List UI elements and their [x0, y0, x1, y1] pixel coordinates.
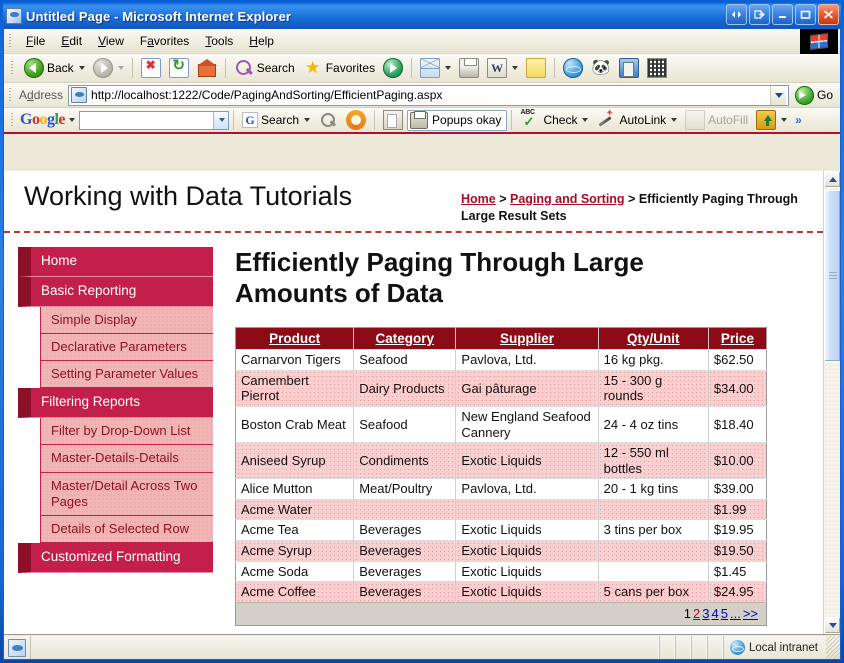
site-header: Working with Data Tutorials Home > Pagin…: [4, 171, 823, 233]
google-logo: Google: [20, 111, 65, 129]
sidebar-item-filtering-reports[interactable]: Filtering Reports: [18, 388, 213, 418]
intranet-globe-icon: [730, 640, 745, 655]
column-header-product[interactable]: Product: [236, 328, 354, 350]
autofill-label: AutoFill: [708, 113, 748, 127]
go-arrow-icon: [795, 86, 814, 105]
popup-blocker-label: Popups okay: [432, 113, 501, 127]
minimize-button[interactable]: [772, 4, 793, 25]
sidebar-item-simple-display[interactable]: Simple Display: [40, 307, 213, 334]
firefox-icon: 🐼: [591, 58, 611, 78]
cell-price: $24.95: [708, 582, 766, 603]
home-icon: [197, 58, 217, 78]
table-row: Acme Tea Beverages Exotic Liquids 3 tins…: [236, 520, 767, 541]
ie-page-icon: [6, 8, 22, 24]
forward-history-chevron-icon[interactable]: [118, 66, 124, 70]
spell-check-label: Check: [543, 113, 577, 127]
window-buttons: [726, 4, 839, 25]
pager-link-ellipsis[interactable]: ...: [730, 606, 741, 621]
cell-category: Dairy Products: [354, 370, 456, 406]
sidebar-item-home[interactable]: Home: [18, 247, 213, 277]
cell-price: $39.00: [708, 479, 766, 500]
search-label: Search: [257, 61, 295, 75]
send-to-button[interactable]: [752, 108, 791, 132]
table-row: Acme Water $1.99: [236, 499, 767, 520]
google-highlight-button[interactable]: [314, 108, 342, 132]
cell-qty-unit: [598, 499, 708, 520]
cell-product: Acme Coffee: [236, 582, 354, 603]
status-security-zone[interactable]: Local intranet: [723, 636, 824, 659]
cell-qty-unit: 12 - 550 ml bottles: [598, 443, 708, 479]
table-row: Acme Soda Beverages Exotic Liquids $1.45: [236, 561, 767, 582]
cell-price: $19.95: [708, 520, 766, 541]
window-client-area: File Edit View Favorites Tools Help Back: [3, 29, 841, 660]
edit-word-chevron-icon[interactable]: [512, 66, 518, 70]
send-to-chevron-icon[interactable]: [781, 118, 787, 122]
menu-tools[interactable]: Tools: [197, 31, 241, 51]
cell-qty-unit: [598, 541, 708, 562]
menu-edit-label: dit: [69, 34, 82, 48]
pager-link-next[interactable]: >>: [743, 606, 758, 621]
chevron-down-icon: [829, 623, 837, 628]
cell-qty-unit: 5 cans per box: [598, 582, 708, 603]
media-icon: [383, 58, 403, 78]
menu-favorites[interactable]: Favorites: [132, 31, 197, 51]
forward-icon: [93, 58, 113, 78]
go-label: Go: [817, 88, 833, 102]
products-grid: Product Category Supplier Qty/Unit Price…: [235, 327, 767, 626]
breadcrumb-sep-2: >: [625, 192, 639, 206]
stop-icon: [141, 58, 161, 78]
pager-link-5[interactable]: 5: [721, 606, 728, 621]
google-separator-1: [233, 110, 234, 130]
mail-chevron-icon[interactable]: [445, 66, 451, 70]
table-row: Camembert Pierrot Dairy Products Gai pât…: [236, 370, 767, 406]
mail-icon: [420, 58, 440, 78]
google-separator-3: [511, 110, 512, 130]
column-header-price[interactable]: Price: [708, 328, 766, 350]
window-title: Untitled Page - Microsoft Internet Explo…: [26, 9, 291, 24]
cell-supplier: Exotic Liquids: [456, 541, 598, 562]
close-button[interactable]: [818, 4, 839, 25]
spell-check-chevron-icon[interactable]: [582, 118, 588, 122]
cell-price: $18.40: [708, 406, 766, 442]
cell-category: Meat/Poultry: [354, 479, 456, 500]
pager-link-2[interactable]: 2: [693, 606, 700, 621]
stop-button[interactable]: [137, 56, 165, 80]
google-toolbar: Google G Search Popups okay: [4, 108, 840, 134]
search-button[interactable]: Search: [230, 56, 299, 80]
notes-icon: [526, 58, 546, 78]
encoding-button[interactable]: [643, 56, 671, 80]
scroll-down-button[interactable]: [824, 617, 841, 634]
menu-view-label: iew: [106, 34, 124, 48]
google-search-button[interactable]: G Search: [238, 110, 314, 130]
google-search-label: Search: [261, 113, 299, 127]
menu-edit[interactable]: Edit: [53, 31, 90, 51]
column-header-qty-unit[interactable]: Qty/Unit: [598, 328, 708, 350]
cell-category: Seafood: [354, 350, 456, 371]
grid-pager-row: 12345...>>: [236, 602, 767, 626]
status-slot-3: [691, 636, 707, 659]
cell-product: Carnarvon Tigers: [236, 350, 354, 371]
status-slot-2: [675, 636, 691, 659]
main-content: Efficiently Paging Through Large Amounts…: [213, 247, 823, 627]
cell-qty-unit: 24 - 4 oz tins: [598, 406, 708, 442]
google-separator-2: [374, 110, 375, 130]
cell-category: Beverages: [354, 520, 456, 541]
maximize-button[interactable]: [795, 4, 816, 25]
cell-price: $10.00: [708, 443, 766, 479]
sidebar-item-filter-by-dropdown-list[interactable]: Filter by Drop-Down List: [40, 418, 213, 445]
address-dropdown-button[interactable]: [770, 86, 786, 105]
google-pagerank-button[interactable]: [342, 108, 370, 132]
restore-down-button[interactable]: [749, 4, 770, 25]
cell-product: Aniseed Syrup: [236, 443, 354, 479]
column-header-category[interactable]: Category: [354, 328, 456, 350]
google-menu-chevron-icon[interactable]: [69, 118, 75, 122]
pager-link-3[interactable]: 3: [702, 606, 709, 621]
cell-supplier: Exotic Liquids: [456, 561, 598, 582]
sidebar-item-master-details-details[interactable]: Master-Details-Details: [40, 445, 213, 472]
cell-product: Acme Soda: [236, 561, 354, 582]
cell-qty-unit: 20 - 1 kg tins: [598, 479, 708, 500]
status-slot-4: [707, 636, 723, 659]
print-button[interactable]: [455, 56, 483, 80]
cell-product: Acme Water: [236, 499, 354, 520]
encoding-icon: [647, 58, 667, 78]
sidebar-item-customized-formatting[interactable]: Customized Formatting: [18, 543, 213, 573]
table-row: Aniseed Syrup Condiments Exotic Liquids …: [236, 443, 767, 479]
cell-qty-unit: [598, 561, 708, 582]
refresh-icon: [169, 58, 189, 78]
cell-category: Beverages: [354, 541, 456, 562]
autolink-label: AutoLink: [619, 113, 666, 127]
spiral-icon: [346, 110, 366, 130]
title-bar: Untitled Page - Microsoft Internet Explo…: [3, 3, 841, 29]
edit-word-icon: W: [487, 58, 507, 78]
menu-view[interactable]: View: [90, 31, 132, 51]
scroll-up-button[interactable]: [824, 171, 841, 188]
page-vertical-scrollbar[interactable]: [823, 171, 840, 634]
sidebar-item-basic-reporting[interactable]: Basic Reporting: [18, 277, 213, 307]
cell-category: Seafood: [354, 406, 456, 442]
cell-price: $1.45: [708, 561, 766, 582]
cell-price: $19.50: [708, 541, 766, 562]
menu-help-label: elp: [258, 34, 274, 48]
send-to-icon: [756, 110, 776, 130]
messenger-button[interactable]: [559, 56, 587, 80]
address-url-text: http://localhost:1222/Code/PagingAndSort…: [91, 88, 766, 102]
menu-file-label: ile: [33, 34, 45, 48]
page-title: Efficiently Paging Through Large Amounts…: [235, 247, 705, 309]
page-body: Home Basic Reporting Simple Display Decl…: [4, 233, 823, 627]
toolbar-grip[interactable]: [8, 59, 17, 77]
google-overflow-button[interactable]: »: [791, 111, 806, 129]
status-zone-label: Local intranet: [749, 642, 818, 654]
autofill-button: AutoFill: [681, 108, 752, 132]
research-button[interactable]: [615, 56, 643, 80]
spell-check-button[interactable]: Check: [516, 108, 592, 132]
breadcrumb-sep-1: >: [496, 192, 510, 206]
menu-bar: File Edit View Favorites Tools Help: [4, 29, 840, 54]
cell-category: Condiments: [354, 443, 456, 479]
ie-animated-logo: [800, 29, 838, 54]
sidebar-item-master-detail-across-two-pages[interactable]: Master/Detail Across Two Pages: [40, 473, 213, 517]
chevron-down-icon: [219, 118, 225, 122]
cell-qty-unit: 15 - 300 g rounds: [598, 370, 708, 406]
edit-in-word-button[interactable]: W: [483, 56, 522, 80]
google-toolbar-grip[interactable]: [8, 111, 17, 129]
table-row: Carnarvon Tigers Seafood Pavlova, Ltd. 1…: [236, 350, 767, 371]
toolbar-separator-2: [225, 58, 226, 78]
favorites-label: Favorites: [326, 61, 375, 75]
address-page-icon: [71, 87, 87, 103]
menu-grip[interactable]: [6, 32, 15, 50]
page-viewport: Working with Data Tutorials Home > Pagin…: [4, 171, 840, 635]
cell-category: [354, 499, 456, 520]
breadcrumb: Home > Paging and Sorting > Efficiently …: [461, 181, 801, 225]
research-icon: [619, 58, 639, 78]
toolbar-separator-4: [554, 58, 555, 78]
back-history-chevron-icon[interactable]: [79, 66, 85, 70]
breadcrumb-link-section[interactable]: Paging and Sorting: [510, 192, 625, 206]
google-g-icon: G: [242, 112, 258, 128]
grid-header-row: Product Category Supplier Qty/Unit Price: [236, 328, 767, 350]
cell-supplier: Gai pâturage: [456, 370, 598, 406]
table-row: Alice Mutton Meat/Poultry Pavlova, Ltd. …: [236, 479, 767, 500]
pager-link-4[interactable]: 4: [712, 606, 719, 621]
resize-grip[interactable]: [826, 636, 840, 659]
google-search-chevron-icon[interactable]: [304, 118, 310, 122]
sidebar-item-setting-parameter-values[interactable]: Setting Parameter Values: [40, 361, 213, 388]
google-news-button[interactable]: [379, 108, 407, 132]
forward-button[interactable]: [89, 56, 128, 80]
firefox-button[interactable]: 🐼: [587, 56, 615, 80]
address-bar: Address http://localhost:1222/Code/Pagin…: [4, 83, 840, 108]
column-header-supplier[interactable]: Supplier: [456, 328, 598, 350]
cell-supplier: Exotic Liquids: [456, 582, 598, 603]
popup-blocker-button[interactable]: Popups okay: [407, 110, 507, 131]
restore-group-button[interactable]: [726, 4, 747, 25]
home-button[interactable]: [193, 56, 221, 80]
back-label: Back: [47, 61, 74, 75]
menu-tools-label: ools: [211, 34, 233, 48]
cell-category: Beverages: [354, 561, 456, 582]
popup-blocker-icon: [410, 112, 428, 129]
google-search-input[interactable]: [79, 111, 229, 130]
table-row: Boston Crab Meat Seafood New England Sea…: [236, 406, 767, 442]
table-row: Acme Syrup Beverages Exotic Liquids $19.…: [236, 541, 767, 562]
autolink-wand-icon: [596, 110, 616, 130]
breadcrumb-link-home[interactable]: Home: [461, 192, 496, 206]
cell-product: Camembert Pierrot: [236, 370, 354, 406]
chevron-down-icon: [775, 93, 783, 98]
cell-supplier: Exotic Liquids: [456, 443, 598, 479]
spellcheck-icon: [520, 110, 540, 130]
go-button[interactable]: Go: [789, 86, 837, 105]
cell-category: Beverages: [354, 582, 456, 603]
cell-price: $62.50: [708, 350, 766, 371]
google-search-dropdown[interactable]: [213, 112, 228, 129]
search-icon: [234, 58, 254, 78]
cell-qty-unit: 16 kg pkg.: [598, 350, 708, 371]
cell-supplier: Exotic Liquids: [456, 520, 598, 541]
autolink-chevron-icon[interactable]: [671, 118, 677, 122]
news-icon: [383, 110, 403, 130]
menu-file[interactable]: File: [18, 31, 53, 51]
menu-help[interactable]: Help: [241, 31, 282, 51]
refresh-button[interactable]: [165, 56, 193, 80]
magnifier-icon: [318, 110, 338, 130]
status-bar: Local intranet: [4, 636, 840, 659]
standard-toolbar: Back Search ★ Favorites: [4, 54, 840, 83]
scrollbar-thumb[interactable]: [824, 190, 841, 362]
menu-favorites-label: vorites: [154, 34, 189, 48]
mail-button[interactable]: [416, 56, 455, 80]
cell-price: $34.00: [708, 370, 766, 406]
address-grip[interactable]: [6, 86, 15, 104]
print-icon: [459, 58, 479, 78]
status-page-icon: [8, 639, 26, 657]
chevron-up-icon: [829, 177, 837, 182]
address-input[interactable]: http://localhost:1222/Code/PagingAndSort…: [68, 85, 789, 106]
sidebar-nav: Home Basic Reporting Simple Display Decl…: [18, 247, 213, 627]
status-message: [30, 636, 659, 659]
toolbar-separator: [132, 58, 133, 78]
toolbar-separator-3: [411, 58, 412, 78]
cell-supplier: New England Seafood Cannery: [456, 406, 598, 442]
cell-product: Acme Syrup: [236, 541, 354, 562]
messenger-globe-icon: [563, 58, 583, 78]
status-slot-1: [659, 636, 675, 659]
grid-pager: 12345...>>: [236, 602, 767, 626]
favorites-star-icon: ★: [303, 58, 323, 78]
sidebar-item-declarative-parameters[interactable]: Declarative Parameters: [40, 334, 213, 361]
sidebar-item-details-of-selected-row[interactable]: Details of Selected Row: [40, 516, 213, 543]
cell-product: Boston Crab Meat: [236, 406, 354, 442]
cell-supplier: [456, 499, 598, 520]
autofill-icon: [685, 110, 705, 130]
web-page: Working with Data Tutorials Home > Pagin…: [4, 171, 823, 634]
back-button[interactable]: Back: [20, 56, 89, 80]
site-title: Working with Data Tutorials: [24, 181, 352, 212]
cell-price: $1.99: [708, 499, 766, 520]
favorites-button[interactable]: ★ Favorites: [299, 56, 379, 80]
cell-supplier: Pavlova, Ltd.: [456, 479, 598, 500]
autolink-button[interactable]: AutoLink: [592, 108, 681, 132]
notes-button[interactable]: [522, 56, 550, 80]
media-button[interactable]: [379, 56, 407, 80]
cell-supplier: Pavlova, Ltd.: [456, 350, 598, 371]
address-label: Address: [18, 88, 68, 102]
cell-product: Acme Tea: [236, 520, 354, 541]
back-icon: [24, 58, 44, 78]
pager-current-page: 1: [684, 606, 691, 621]
table-row: Acme Coffee Beverages Exotic Liquids 5 c…: [236, 582, 767, 603]
overflow-chevron-icon: »: [795, 113, 802, 127]
cell-product: Alice Mutton: [236, 479, 354, 500]
ie-window: Untitled Page - Microsoft Internet Explo…: [0, 0, 844, 663]
cell-qty-unit: 3 tins per box: [598, 520, 708, 541]
